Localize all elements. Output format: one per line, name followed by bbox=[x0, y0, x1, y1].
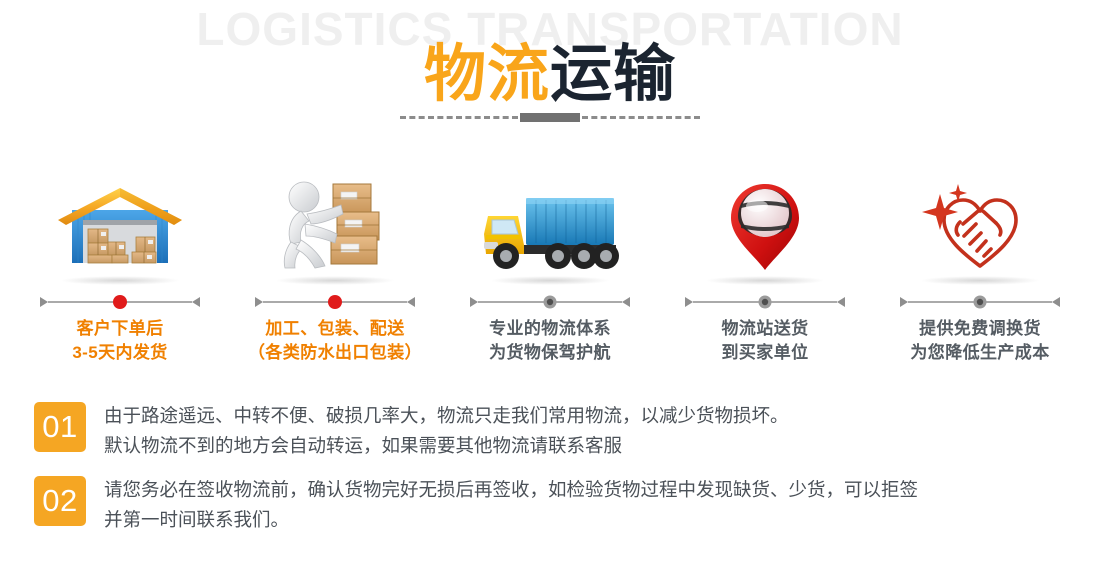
worker-pushing-boxes-icon bbox=[229, 178, 441, 274]
divider-dash-right bbox=[582, 116, 700, 119]
feature-caption-line: （各类防水出口包装） bbox=[248, 341, 422, 365]
feature-caption-line: 提供免费调换货 bbox=[910, 317, 1049, 341]
header: LOGISTICS TRANSPORTATION 物流运输 bbox=[0, 0, 1100, 150]
divider-dash-left bbox=[400, 116, 518, 119]
title-divider bbox=[0, 113, 1100, 122]
divider-center-block bbox=[520, 113, 580, 122]
note-number-badge: 01 bbox=[34, 402, 86, 452]
feature-caption-line: 为货物保驾护航 bbox=[489, 341, 611, 365]
icon-shadow bbox=[490, 276, 610, 285]
separator-gray bbox=[683, 294, 847, 310]
icon-shadow bbox=[275, 276, 395, 285]
separator-red bbox=[253, 294, 417, 310]
icon-shadow bbox=[705, 276, 825, 285]
note-number-badge: 02 bbox=[34, 476, 86, 526]
notes-list: 01 由于路途遥远、中转不便、破损几率大，物流只走我们常用物流，以减少货物损坏。… bbox=[0, 400, 1100, 548]
feature-caption: 加工、包装、配送 （各类防水出口包装） bbox=[248, 317, 422, 365]
feature-caption-line: 物流站送货 bbox=[722, 317, 809, 341]
note-line: 请您务必在签收物流前，确认货物完好无损后再签收，如检验货物过程中发现缺货、少货，… bbox=[104, 475, 918, 505]
page-title: 物流运输 bbox=[0, 23, 1100, 113]
note-text: 由于路途遥远、中转不便、破损几率大，物流只走我们常用物流，以减少货物损坏。 默认… bbox=[104, 400, 789, 460]
warehouse-icon bbox=[14, 178, 226, 274]
note-item: 02 请您务必在签收物流前，确认货物完好无损后再签收，如检验货物过程中发现缺货、… bbox=[34, 474, 1066, 534]
feature-list: 客户下单后 3-5天内发货 bbox=[0, 178, 1100, 378]
container-truck-icon bbox=[444, 178, 656, 274]
note-line: 并第一时间联系我们。 bbox=[104, 505, 918, 535]
feature-caption: 客户下单后 3-5天内发货 bbox=[72, 317, 167, 365]
feature-caption-line: 专业的物流体系 bbox=[489, 317, 611, 341]
feature-caption: 物流站送货 到买家单位 bbox=[722, 317, 809, 365]
map-pin-icon bbox=[659, 178, 871, 274]
feature-caption: 提供免费调换货 为您降低生产成本 bbox=[910, 317, 1049, 365]
feature-caption-line: 加工、包装、配送 bbox=[248, 317, 422, 341]
feature-item: 物流站送货 到买家单位 bbox=[659, 178, 871, 378]
feature-caption-line: 到买家单位 bbox=[722, 341, 809, 365]
separator-gray bbox=[468, 294, 632, 310]
note-text: 请您务必在签收物流前，确认货物完好无损后再签收，如检验货物过程中发现缺货、少货，… bbox=[104, 474, 918, 534]
note-line: 默认物流不到的地方会自动转运，如果需要其他物流请联系客服 bbox=[104, 431, 789, 461]
feature-item: 客户下单后 3-5天内发货 bbox=[14, 178, 226, 378]
note-line: 由于路途遥远、中转不便、破损几率大，物流只走我们常用物流，以减少货物损坏。 bbox=[104, 401, 789, 431]
handshake-heart-icon bbox=[874, 178, 1086, 274]
feature-item: 提供免费调换货 为您降低生产成本 bbox=[874, 178, 1086, 378]
title-orange-part: 物流 bbox=[424, 40, 550, 109]
promo-banner: LOGISTICS TRANSPORTATION 物流运输 bbox=[0, 0, 1100, 567]
feature-caption-line: 为您降低生产成本 bbox=[910, 341, 1049, 365]
feature-caption-line: 客户下单后 bbox=[72, 317, 167, 341]
separator-red bbox=[38, 294, 202, 310]
feature-caption: 专业的物流体系 为货物保驾护航 bbox=[489, 317, 611, 365]
title-dark-part: 运输 bbox=[550, 40, 676, 109]
icon-shadow bbox=[60, 276, 180, 285]
feature-caption-line: 3-5天内发货 bbox=[72, 341, 167, 365]
note-item: 01 由于路途遥远、中转不便、破损几率大，物流只走我们常用物流，以减少货物损坏。… bbox=[34, 400, 1066, 460]
feature-item: 加工、包装、配送 （各类防水出口包装） bbox=[229, 178, 441, 378]
separator-gray bbox=[898, 294, 1062, 310]
icon-shadow bbox=[920, 276, 1040, 285]
feature-item: 专业的物流体系 为货物保驾护航 bbox=[444, 178, 656, 378]
